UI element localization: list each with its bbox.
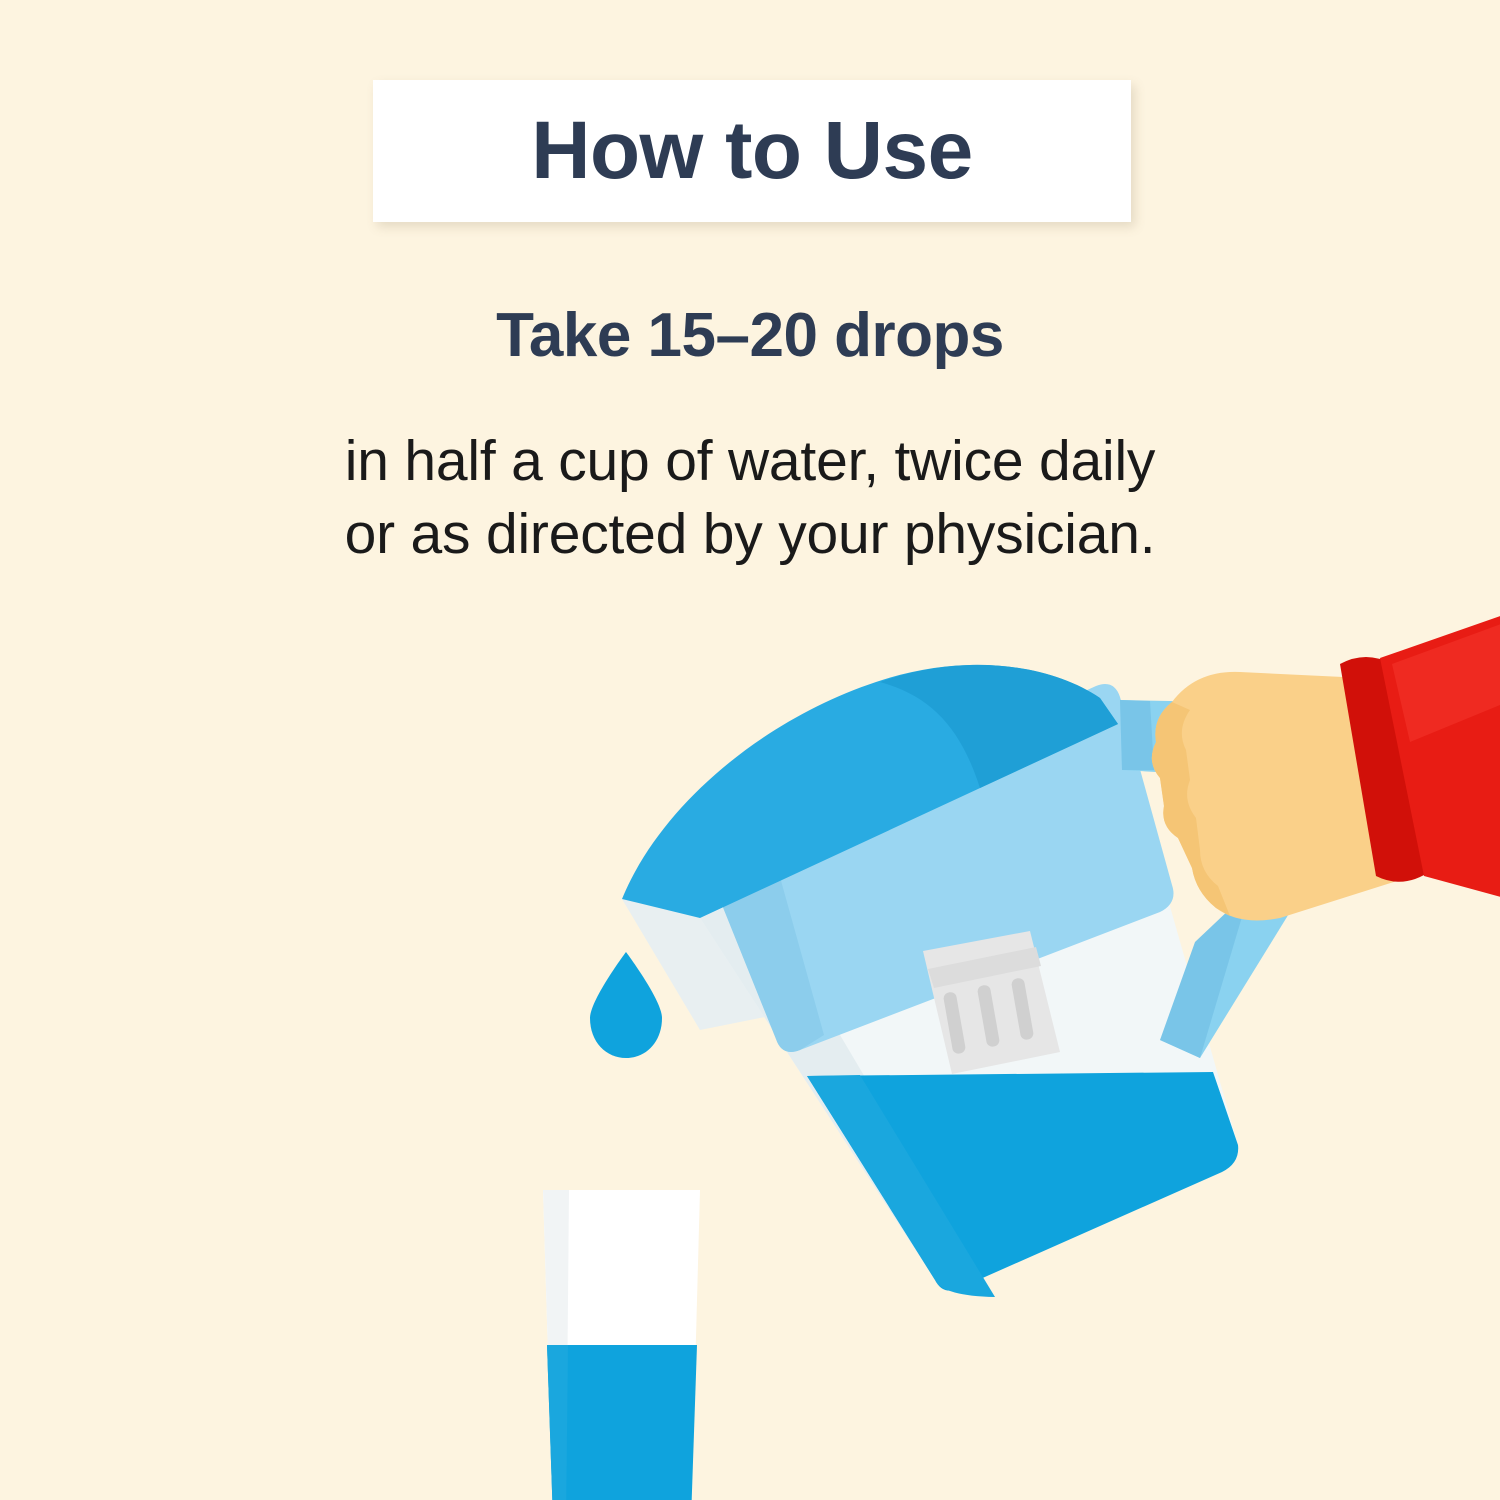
how-to-use-poster: How to Use Take 15–20 drops in half a cu… bbox=[0, 0, 1500, 1500]
illustration-hand-pouring-pitcher bbox=[0, 0, 1500, 1500]
drinking-glass bbox=[543, 1190, 700, 1500]
glass-water bbox=[547, 1345, 697, 1500]
pitcher-water bbox=[807, 1072, 1238, 1297]
water-droplet-icon bbox=[590, 952, 662, 1058]
